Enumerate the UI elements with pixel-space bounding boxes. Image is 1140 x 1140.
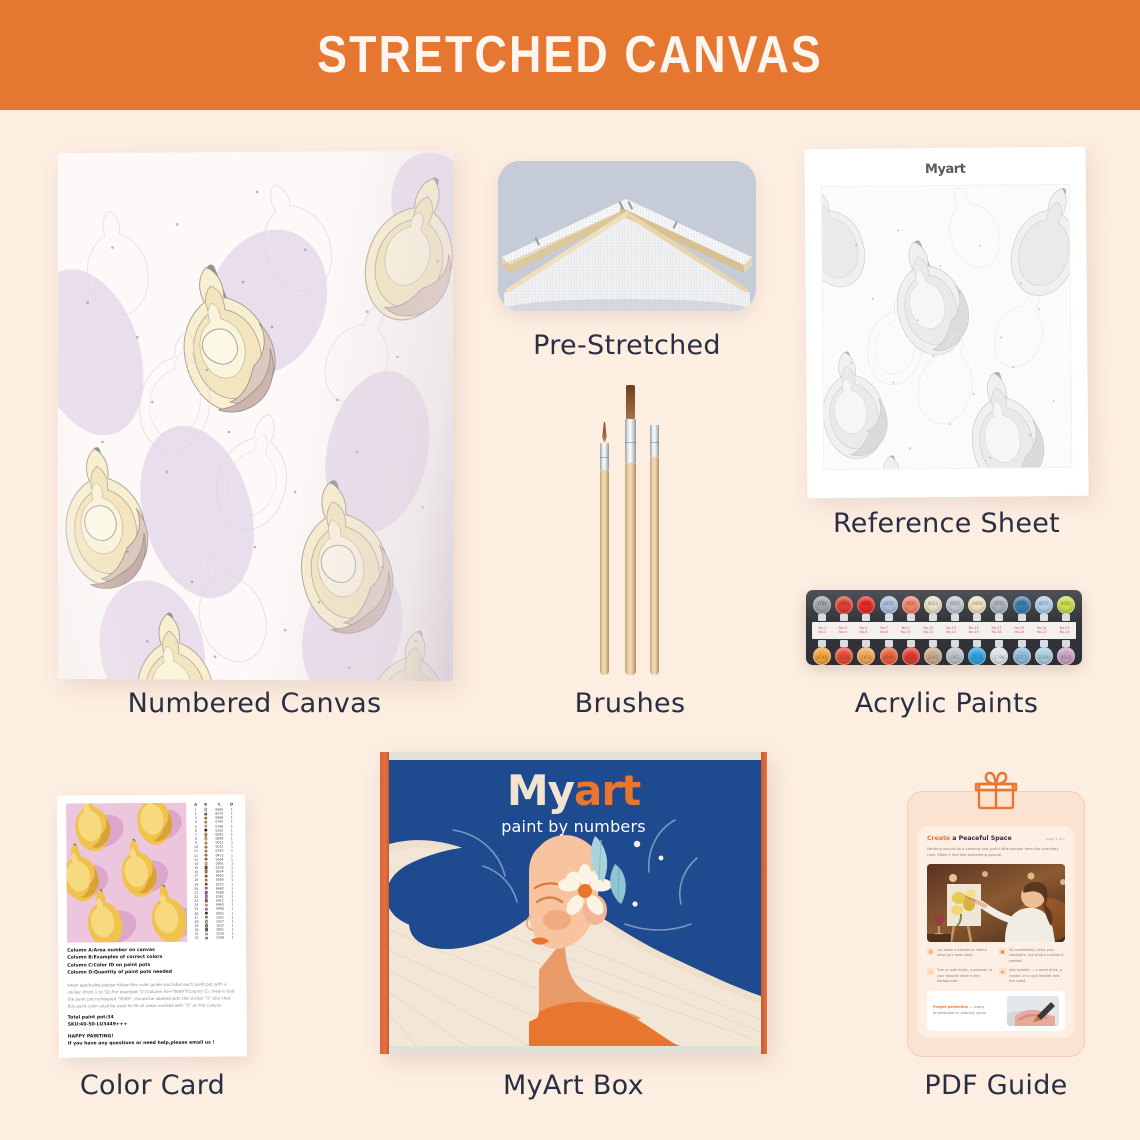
paint-label-cell: No.1No.2 bbox=[818, 627, 826, 635]
cell-quantity: 1 bbox=[228, 936, 237, 940]
color-card-artwork bbox=[66, 803, 187, 943]
cell-area-number: 32 bbox=[192, 936, 201, 940]
paint-label-cell: No.21No.22 bbox=[1037, 627, 1047, 635]
caption-color-card: Color Card bbox=[30, 1070, 275, 1101]
paint-pot-code: 003 bbox=[945, 655, 965, 660]
paint-label-cell: No.17No.18 bbox=[992, 627, 1002, 635]
myart-logo: Myart paint by numbers bbox=[380, 766, 767, 836]
pdf-guide-photo bbox=[927, 864, 1065, 942]
gift-icon bbox=[973, 768, 1019, 815]
cell-color-swatch bbox=[200, 812, 211, 815]
paint-pot-neck bbox=[907, 614, 915, 621]
paint-label-strip: No.1No.2No.3No.4No.5No.6No.7No.8No.9No.1… bbox=[812, 622, 1076, 639]
paint-pot: 0031 bbox=[945, 595, 965, 621]
cell-color-id: 2208 bbox=[212, 936, 228, 940]
brush-flat bbox=[625, 385, 636, 675]
paint-label-cell: No.19No.20 bbox=[1014, 627, 1024, 635]
color-card-image: A B C D 10069120075130068140145150146160… bbox=[57, 794, 247, 1057]
paint-label-cell: No.13No.14 bbox=[946, 627, 956, 635]
paint-pot-neck bbox=[840, 614, 848, 621]
cell-color-swatch bbox=[201, 932, 212, 935]
pdf-title-rest: a Peaceful Space bbox=[950, 835, 1012, 842]
cell-color-swatch bbox=[200, 829, 211, 832]
paint-pot-neck bbox=[907, 640, 915, 647]
pdf-guide-image: Create a Peaceful Space page 1 of 1 Pain… bbox=[907, 791, 1085, 1057]
reference-sheet-image: Myart bbox=[804, 147, 1088, 498]
pdf-tip-text: Lay down a blanket or mat to keep your a… bbox=[937, 948, 993, 959]
paint-pot-neck bbox=[1062, 640, 1070, 647]
cell-color-swatch bbox=[200, 825, 211, 828]
cell-color-swatch bbox=[201, 887, 212, 890]
cell-color-swatch bbox=[201, 911, 212, 914]
brushes-image bbox=[584, 385, 676, 675]
pre-stretched-image bbox=[498, 161, 756, 311]
caption-pdf-guide: PDF Guide bbox=[865, 1070, 1127, 1101]
paint-label-cell: No.7No.8 bbox=[880, 627, 888, 635]
brush-tip bbox=[626, 385, 635, 419]
paint-pot-code: 0372 bbox=[879, 601, 899, 606]
paint-pot: 0372 bbox=[879, 595, 899, 621]
paint-pot: 1794 bbox=[989, 640, 1009, 666]
brush-tip bbox=[652, 397, 658, 425]
caption-pre-stretched: Pre-Stretched bbox=[498, 330, 756, 361]
numbered-canvas-image bbox=[58, 151, 453, 681]
cell-color-swatch bbox=[201, 903, 212, 906]
paint-pot-code: 0182 bbox=[901, 655, 921, 660]
pdf-tip-text: Sit comfortably, relax your shoulders, a… bbox=[1009, 948, 1065, 965]
pdf-guide-title: Create a Peaceful Space bbox=[927, 835, 1012, 842]
paint-pot-neck bbox=[995, 640, 1003, 647]
paint-pot-code: 0031 bbox=[945, 601, 965, 606]
box-subtitle: paint by numbers bbox=[380, 817, 767, 836]
paint-pot: 0182 bbox=[901, 640, 921, 666]
paint-pot-neck bbox=[1040, 640, 1048, 647]
paint-pot: 0102 bbox=[856, 595, 876, 621]
cell-color-swatch bbox=[200, 808, 211, 811]
cell-color-swatch bbox=[200, 833, 211, 836]
caption-myart-box: MyArt Box bbox=[380, 1070, 767, 1101]
paint-pot: 2122 bbox=[967, 640, 987, 666]
paint-label-cell: No.11No.12 bbox=[923, 627, 933, 635]
paint-pot-neck bbox=[885, 614, 893, 621]
logo-art-text: art bbox=[574, 766, 640, 815]
pdf-tip-item: ♪Turn on soft music, a podcast, or your … bbox=[927, 968, 993, 985]
paint-pot-code: 0140 bbox=[812, 655, 832, 660]
paint-pot: 0404 bbox=[967, 595, 987, 621]
cell-color-swatch bbox=[201, 936, 212, 939]
paint-pot: 2264 bbox=[1034, 640, 1054, 666]
reference-sheet-artwork bbox=[821, 184, 1072, 470]
logo-my-text: My bbox=[507, 766, 574, 815]
paint-pot-row-bottom: 0140103010210940018220470032122179421132… bbox=[812, 640, 1076, 666]
pdf-guide-footer: Forget perfection — every brushstroke is… bbox=[927, 991, 1065, 1031]
cell-color-swatch bbox=[201, 928, 212, 931]
cell-color-swatch bbox=[201, 895, 212, 898]
cell-color-swatch bbox=[200, 820, 211, 823]
footer-accent-text: Forget perfection bbox=[933, 1005, 968, 1009]
paint-pot-neck bbox=[973, 640, 981, 647]
paint-pot-code: 1182 bbox=[812, 601, 832, 606]
cell-color-swatch bbox=[201, 916, 212, 919]
paint-pot-code: 0437 bbox=[901, 601, 921, 606]
color-card-legend: Column A:Area number on canvas Column B:… bbox=[67, 946, 237, 977]
page-title: STRETCHED CANVAS bbox=[317, 25, 823, 85]
paint-pot-neck bbox=[818, 640, 826, 647]
pdf-footer-thumbnail bbox=[1007, 996, 1059, 1026]
candle-icon: ▲ bbox=[999, 968, 1006, 975]
pdf-page-number: page 1 of 1 bbox=[1046, 837, 1065, 841]
paint-label-cell: No.9No.10 bbox=[901, 627, 911, 635]
color-card-table: A B C D 10069120075130068140145150146160… bbox=[191, 802, 237, 941]
cell-color-swatch bbox=[201, 858, 212, 861]
paint-pot-neck bbox=[951, 640, 959, 647]
pdf-tip-item: ▲Add comfort — a warm drink, a candle, o… bbox=[999, 968, 1065, 985]
paint-pot-neck bbox=[973, 614, 981, 621]
paint-pot-code: 0034 bbox=[834, 601, 854, 606]
cell-color-swatch bbox=[201, 874, 212, 877]
pdf-title-accent: Create bbox=[927, 835, 950, 842]
paint-pot: 2113 bbox=[1012, 640, 1032, 666]
color-card-row: 3222081 bbox=[192, 936, 237, 940]
music-icon: ♪ bbox=[927, 968, 934, 975]
brush-round bbox=[650, 397, 659, 675]
paint-pot: 2047 bbox=[923, 640, 943, 666]
paint-pot: 1030 bbox=[834, 640, 854, 666]
cell-color-swatch bbox=[201, 891, 212, 894]
paint-pot-neck bbox=[818, 614, 826, 621]
caption-reference-sheet: Reference Sheet bbox=[806, 508, 1087, 539]
cell-color-swatch bbox=[200, 837, 211, 840]
paint-label-cell: No.15No.16 bbox=[969, 627, 979, 635]
cell-color-swatch bbox=[200, 849, 211, 852]
paint-pot-code: 0102 bbox=[856, 601, 876, 606]
pdf-guide-page: Create a Peaceful Space page 1 of 1 Pain… bbox=[918, 826, 1074, 1038]
paint-pot-code: 2047 bbox=[923, 655, 943, 660]
col-header-b: B bbox=[200, 803, 211, 807]
paint-label-cell: No.5No.6 bbox=[860, 627, 868, 635]
pdf-guide-tips: ▤Lay down a blanket or mat to keep your … bbox=[927, 948, 1065, 985]
paint-pot-neck bbox=[840, 640, 848, 647]
pdf-tip-item: ▤Lay down a blanket or mat to keep your … bbox=[927, 948, 993, 965]
cell-color-swatch bbox=[200, 816, 211, 819]
caption-numbered-canvas: Numbered Canvas bbox=[57, 688, 452, 719]
myart-box-image: Myart paint by numbers bbox=[380, 752, 767, 1054]
paint-pot: 0140 bbox=[812, 640, 832, 666]
paint-pot: 0034 bbox=[834, 595, 854, 621]
chair-icon: ▣ bbox=[999, 948, 1006, 955]
paint-pot-row-top: 1182003401020372043700230031040407720072… bbox=[812, 595, 1076, 621]
paint-pot-neck bbox=[1018, 640, 1026, 647]
paint-pot-code: 0012 bbox=[1056, 655, 1076, 660]
col-header-a: A bbox=[191, 803, 200, 807]
brush-thin-round bbox=[600, 422, 609, 675]
paint-pot-code: 2264 bbox=[1034, 655, 1054, 660]
paint-pot: 0772 bbox=[989, 595, 1009, 621]
paint-pot: 0072 bbox=[1012, 595, 1032, 621]
paint-pot: 0437 bbox=[901, 595, 921, 621]
canvas-art bbox=[58, 151, 453, 681]
pdf-tip-item: ▣Sit comfortably, relax your shoulders, … bbox=[999, 948, 1065, 965]
paint-pot-code: 0077 bbox=[1034, 601, 1054, 606]
paint-pot-code: 2122 bbox=[967, 655, 987, 660]
pdf-guide-description: Painting should be a calming and joyful … bbox=[927, 846, 1065, 859]
paint-pot: 0940 bbox=[879, 640, 899, 666]
caption-acrylic-paints: Acrylic Paints bbox=[806, 688, 1087, 719]
paint-pot-code: 0042 bbox=[1056, 601, 1076, 606]
page-header: STRETCHED CANVAS bbox=[0, 0, 1140, 110]
paint-pot-neck bbox=[862, 640, 870, 647]
sku-code: SKU:40-50-LU3449+++ bbox=[68, 1021, 238, 1030]
caption-brushes: Brushes bbox=[500, 688, 760, 719]
paint-pot: 003 bbox=[945, 640, 965, 666]
paint-pot-neck bbox=[862, 614, 870, 621]
cell-color-swatch bbox=[201, 862, 212, 865]
paint-pot-neck bbox=[995, 614, 1003, 621]
cell-color-swatch bbox=[201, 907, 212, 910]
paint-label-cell: No.23No.24 bbox=[1060, 627, 1070, 635]
cell-color-swatch bbox=[201, 866, 212, 869]
paint-pot: 1182 bbox=[812, 595, 832, 621]
col-header-d: D bbox=[227, 802, 236, 806]
product-infographic: STRETCHED CANVAS bbox=[0, 0, 1140, 1140]
cell-color-swatch bbox=[200, 845, 211, 848]
paint-pot-code: 1030 bbox=[834, 655, 854, 660]
pdf-tip-text: Add comfort — a warm drink, a candle, or… bbox=[1009, 968, 1065, 985]
paint-pot-neck bbox=[1040, 614, 1048, 621]
paint-pot-neck bbox=[1062, 614, 1070, 621]
cell-color-swatch bbox=[201, 924, 212, 927]
paint-pot-neck bbox=[1018, 614, 1026, 621]
cell-color-swatch bbox=[201, 882, 212, 885]
contact-text: If you have any questions or need help,p… bbox=[68, 1040, 238, 1049]
col-header-c: C bbox=[211, 802, 227, 806]
paint-pot-code: 1794 bbox=[989, 655, 1009, 660]
paint-pot: 0012 bbox=[1056, 640, 1076, 666]
paint-pot-code: 0023 bbox=[923, 601, 943, 606]
paint-pot: 0023 bbox=[923, 595, 943, 621]
legend-line: Column D:Quantity of paint pots needed bbox=[67, 969, 237, 978]
paint-pot-code: 0072 bbox=[1012, 601, 1032, 606]
pdf-tip-text: Turn on soft music, a podcast, or your f… bbox=[937, 968, 993, 985]
color-card-instructions: when applicable,please follow this color… bbox=[67, 980, 237, 1009]
paint-pot-code: 2113 bbox=[1012, 655, 1032, 660]
paint-pot-code: 0404 bbox=[967, 601, 987, 606]
paint-pot: 1021 bbox=[856, 640, 876, 666]
paint-pot-neck bbox=[951, 614, 959, 621]
paint-pot-neck bbox=[929, 614, 937, 621]
acrylic-paints-image: 1182003401020372043700230031040407720072… bbox=[806, 590, 1082, 665]
cell-color-swatch bbox=[200, 841, 211, 844]
reference-sheet-logo: Myart bbox=[821, 161, 1070, 178]
easel-icon: ▤ bbox=[927, 948, 934, 955]
paint-pot-code: 1021 bbox=[856, 655, 876, 660]
brush-tip bbox=[602, 422, 607, 443]
paint-pot: 0077 bbox=[1034, 595, 1054, 621]
cell-color-swatch bbox=[201, 920, 212, 923]
paint-label-cell: No.3No.4 bbox=[839, 627, 847, 635]
paint-pot-neck bbox=[885, 640, 893, 647]
paint-pot-code: 0940 bbox=[879, 655, 899, 660]
paint-pot-neck bbox=[929, 640, 937, 647]
cell-color-swatch bbox=[201, 878, 212, 881]
cell-color-swatch bbox=[201, 899, 212, 902]
cell-color-swatch bbox=[200, 854, 211, 857]
paint-pot: 0042 bbox=[1056, 595, 1076, 621]
paint-pot-code: 0772 bbox=[989, 601, 1009, 606]
cell-color-swatch bbox=[201, 870, 212, 873]
